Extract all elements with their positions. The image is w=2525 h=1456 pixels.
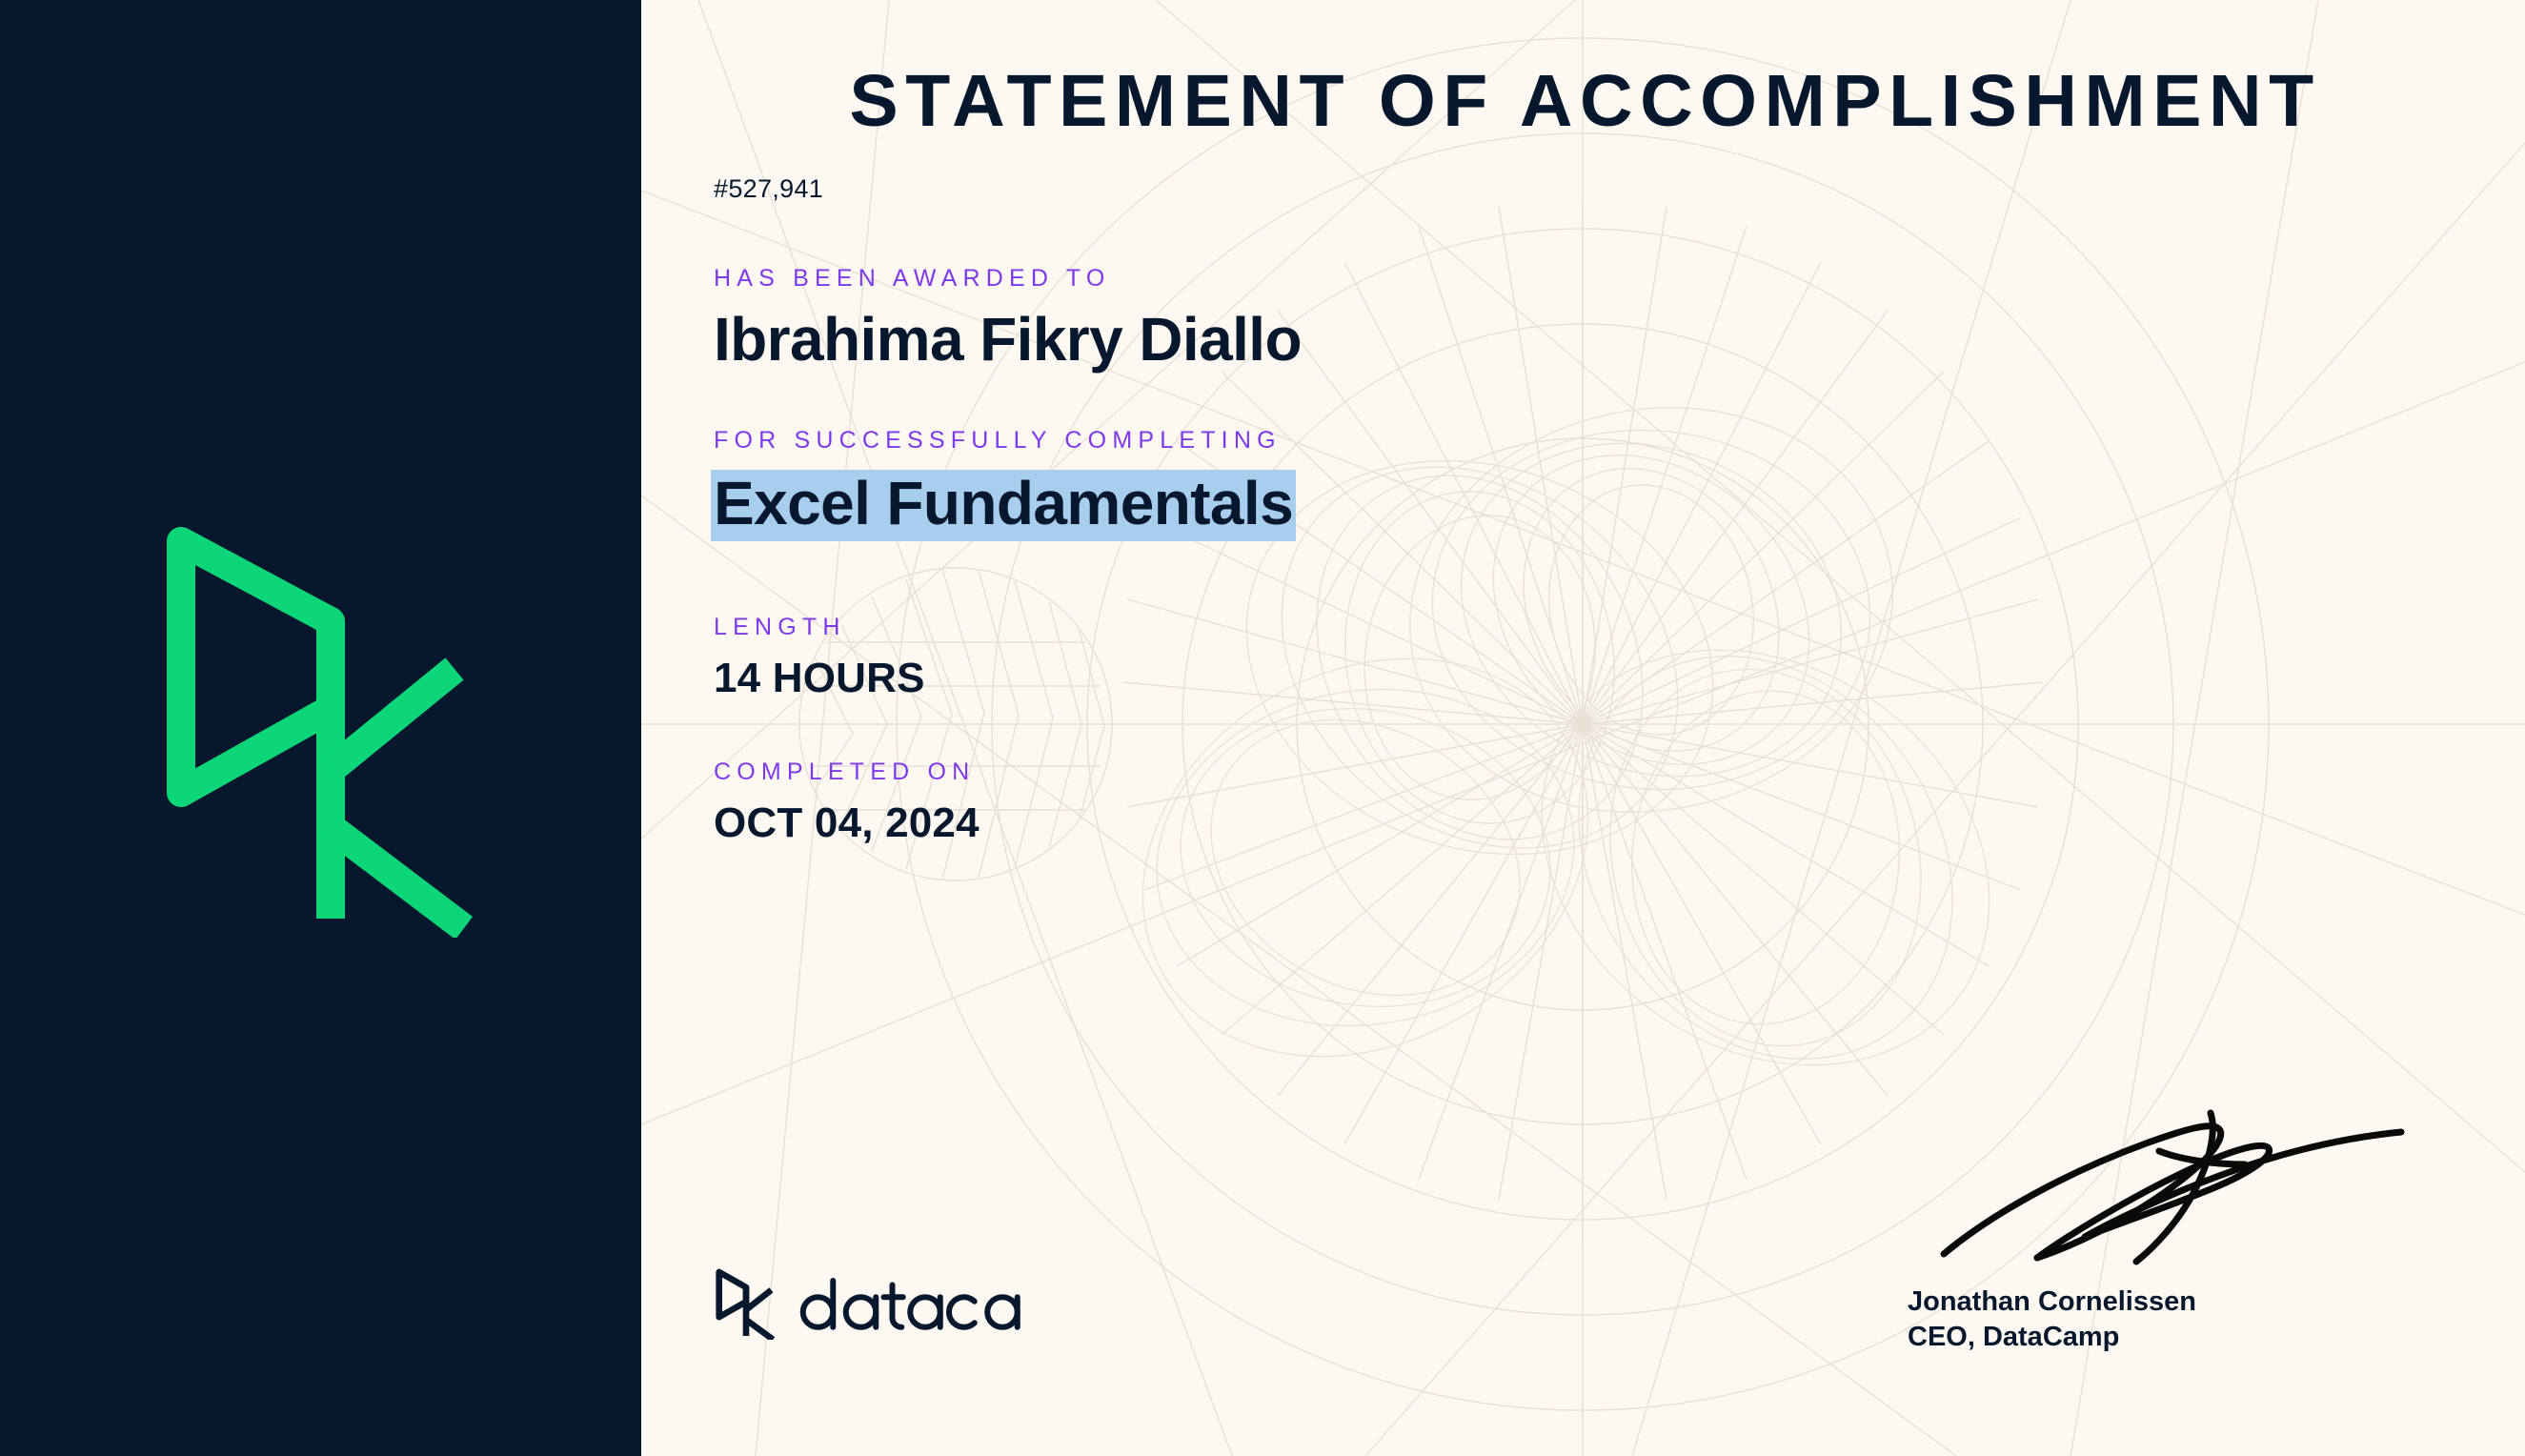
course-title-highlighted: Excel Fundamentals	[711, 470, 1296, 541]
handwritten-signature-icon	[1925, 1102, 2420, 1283]
datacamp-wordmark	[799, 1275, 1036, 1332]
course-title-wrap: Excel Fundamentals	[714, 470, 2456, 541]
field-length: LENGTH 14 HOURS	[714, 616, 2456, 700]
completed-date-value: OCT 04, 2024	[714, 799, 980, 846]
signer-name: Jonathan Cornelissen	[1908, 1284, 2441, 1320]
signature-block: Jonathan Cornelissen CEO, DataCamp	[1908, 1102, 2441, 1355]
certificate-body: STATEMENT OF ACCOMPLISHMENT #527,941 HAS…	[641, 0, 2525, 1456]
length-value: 14 HOURS	[714, 655, 925, 701]
field-awarded-to: HAS BEEN AWARDED TO Ibrahima Fikry Diall…	[714, 267, 2456, 372]
datacamp-footer-logo	[714, 1267, 1036, 1340]
page-title: STATEMENT OF ACCOMPLISHMENT	[714, 65, 2456, 138]
completed-on-label: COMPLETED ON	[714, 760, 2456, 784]
certificate-number: #527,941	[714, 174, 2456, 204]
datacamp-monogram-icon	[714, 1267, 778, 1340]
length-label: LENGTH	[714, 616, 2456, 639]
completed-date-wrap: OCT 04, 2024	[714, 801, 2456, 845]
certificate-page: STATEMENT OF ACCOMPLISHMENT #527,941 HAS…	[0, 0, 2525, 1456]
field-course: FOR SUCCESSFULLY COMPLETING Excel Fundam…	[714, 429, 2456, 541]
length-value-wrap: 14 HOURS	[714, 657, 2456, 700]
recipient-name-wrap: Ibrahima Fikry Diallo	[714, 308, 2456, 372]
recipient-name: Ibrahima Fikry Diallo	[714, 305, 1302, 374]
field-completed-on: COMPLETED ON OCT 04, 2024	[714, 760, 2456, 845]
signer-role: CEO, DataCamp	[1908, 1320, 2441, 1355]
awarded-to-label: HAS BEEN AWARDED TO	[714, 267, 2456, 291]
brand-panel	[0, 0, 641, 1456]
datacamp-monogram-icon	[150, 518, 493, 938]
completing-label: FOR SUCCESSFULLY COMPLETING	[714, 429, 2456, 453]
certificate-content: STATEMENT OF ACCOMPLISHMENT #527,941 HAS…	[641, 0, 2525, 1456]
